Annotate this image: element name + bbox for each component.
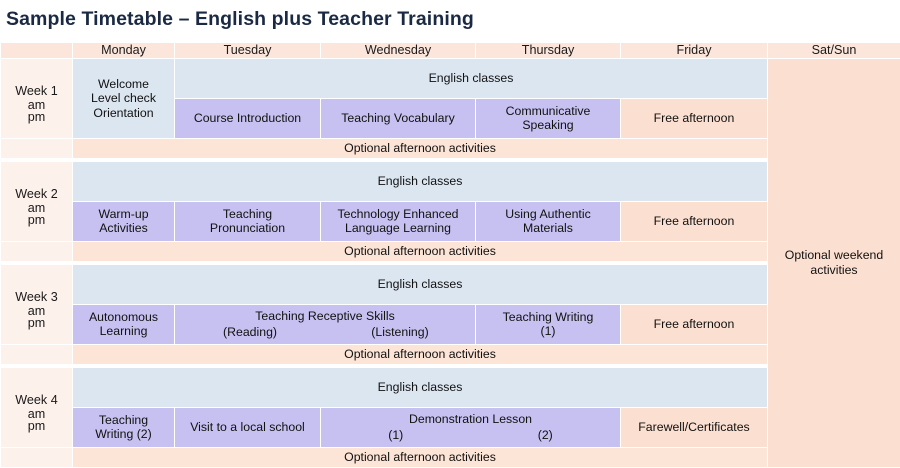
- header-corner: [1, 43, 73, 59]
- week4-pm-demonstration-lesson[interactable]: Demonstration Lesson (1) (2): [321, 407, 621, 447]
- week3-pm-thursday[interactable]: Teaching Writing (1): [476, 304, 621, 344]
- week1-optional-spacer: [1, 138, 73, 158]
- week2-pm-tuesday-line2: Pronunciation: [177, 221, 318, 236]
- week3-pm-receptive-title: Teaching Receptive Skills: [175, 309, 475, 324]
- weekend-label: Optional weekend activities: [785, 248, 883, 277]
- week-label-3-name: Week 3: [3, 290, 70, 305]
- week2-pm-thursday[interactable]: Using Authentic Materials: [476, 201, 621, 241]
- week2-pm-wednesday-line2: Language Learning: [323, 221, 473, 236]
- week1-monday-cell[interactable]: Welcome Level check Orientation: [73, 58, 175, 138]
- week-label-4-name: Week 4: [3, 393, 70, 408]
- week3-pm-receptive-sub2: (Listening): [325, 325, 475, 340]
- week1-monday-line1: Welcome: [75, 77, 172, 92]
- week1-pm-thursday[interactable]: Communicative Speaking: [476, 98, 621, 138]
- week4-pm-demo-title: Demonstration Lesson: [321, 412, 620, 427]
- week1-am-row: Week 1 am Welcome Level check Orientatio…: [1, 58, 900, 98]
- table-header-row: Monday Tuesday Wednesday Thursday Friday…: [1, 43, 900, 59]
- week4-pm-monday-line2: Writing (2): [75, 427, 172, 442]
- week1-monday-line2: Level check: [75, 91, 172, 106]
- week1-optional-row: Optional afternoon activities: [1, 138, 900, 158]
- week-label-4-pm: pm: [1, 419, 73, 433]
- week4-pm-row: Teaching Writing (2) Visit to a local sc…: [1, 407, 900, 447]
- timetable: Monday Tuesday Wednesday Thursday Friday…: [0, 42, 900, 468]
- header-day-wednesday: Wednesday: [321, 43, 476, 59]
- week-label-3-pm: pm: [1, 316, 73, 330]
- week-label-2-pm: pm: [1, 213, 73, 227]
- week3-pm-row: Autonomous Learning Teaching Receptive S…: [1, 304, 900, 344]
- header-day-monday: Monday: [73, 43, 175, 59]
- week4-am-row: Week 4 am English classes: [1, 367, 900, 407]
- week2-pm-friday[interactable]: Free afternoon: [621, 201, 768, 241]
- week1-pm-tuesday[interactable]: Course Introduction: [175, 98, 321, 138]
- week-label-4: Week 4 am: [1, 367, 73, 447]
- week1-pm-thursday-line2: Speaking: [478, 118, 618, 133]
- week3-optional-spacer: [1, 344, 73, 364]
- week2-pm-thursday-line2: Materials: [478, 221, 618, 236]
- week3-optional-activities[interactable]: Optional afternoon activities: [73, 344, 768, 364]
- week3-pm-friday[interactable]: Free afternoon: [621, 304, 768, 344]
- week-label-2-name: Week 2: [3, 187, 70, 202]
- week-label-1-pm: pm: [1, 110, 73, 124]
- weekend-cell[interactable]: Optional weekend activities: [768, 58, 900, 467]
- week2-pm-thursday-line1: Using Authentic: [478, 207, 618, 222]
- header-day-friday: Friday: [621, 43, 768, 59]
- week4-pm-demo-subs: (1) (2): [321, 428, 620, 443]
- week4-optional-row: Optional afternoon activities: [1, 447, 900, 467]
- week3-english-classes[interactable]: English classes: [73, 264, 768, 304]
- week2-pm-wednesday-line1: Technology Enhanced: [323, 207, 473, 222]
- week2-pm-monday-line2: Activities: [75, 221, 172, 236]
- week3-pm-receptive-subs: (Reading) (Listening): [175, 325, 475, 340]
- week4-optional-spacer: [1, 447, 73, 467]
- week1-english-classes[interactable]: English classes: [175, 58, 768, 98]
- week3-pm-monday-line1: Autonomous: [75, 310, 172, 325]
- week3-pm-monday[interactable]: Autonomous Learning: [73, 304, 175, 344]
- week4-pm-monday[interactable]: Teaching Writing (2): [73, 407, 175, 447]
- week2-pm-monday[interactable]: Warm-up Activities: [73, 201, 175, 241]
- week2-am-row: Week 2 am English classes: [1, 161, 900, 201]
- week-label-1: Week 1 am: [1, 58, 73, 138]
- week4-pm-demo-sub2: (2): [471, 428, 621, 443]
- week2-pm-wednesday[interactable]: Technology Enhanced Language Learning: [321, 201, 476, 241]
- week1-pm-friday[interactable]: Free afternoon: [621, 98, 768, 138]
- week3-pm-receptive-sub1: (Reading): [175, 325, 325, 340]
- week4-optional-activities[interactable]: Optional afternoon activities: [73, 447, 768, 467]
- week2-optional-activities[interactable]: Optional afternoon activities: [73, 241, 768, 261]
- week-label-2: Week 2 am: [1, 161, 73, 241]
- header-day-tuesday: Tuesday: [175, 43, 321, 59]
- week3-am-row: Week 3 am English classes: [1, 264, 900, 304]
- week-label-3: Week 3 am: [1, 264, 73, 344]
- week3-pm-monday-line2: Learning: [75, 324, 172, 339]
- week3-optional-row: Optional afternoon activities: [1, 344, 900, 364]
- week2-optional-spacer: [1, 241, 73, 261]
- week2-pm-row: Warm-up Activities Teaching Pronunciatio…: [1, 201, 900, 241]
- week2-pm-tuesday-line1: Teaching: [177, 207, 318, 222]
- week2-pm-monday-line1: Warm-up: [75, 207, 172, 222]
- page-title: Sample Timetable – English plus Teacher …: [0, 0, 900, 31]
- week4-pm-tuesday[interactable]: Visit to a local school: [175, 407, 321, 447]
- week3-pm-thursday-line1: Teaching Writing: [478, 310, 618, 325]
- week2-english-classes[interactable]: English classes: [73, 161, 768, 201]
- week4-english-classes[interactable]: English classes: [73, 367, 768, 407]
- timetable-container: Monday Tuesday Wednesday Thursday Friday…: [0, 42, 900, 450]
- week1-optional-activities[interactable]: Optional afternoon activities: [73, 138, 768, 158]
- week-label-1-name: Week 1: [3, 84, 70, 99]
- week4-pm-monday-line1: Teaching: [75, 413, 172, 428]
- week2-pm-tuesday[interactable]: Teaching Pronunciation: [175, 201, 321, 241]
- week3-pm-thursday-line2: (1): [478, 324, 618, 339]
- week2-optional-row: Optional afternoon activities: [1, 241, 900, 261]
- header-day-satsun: Sat/Sun: [768, 43, 900, 59]
- week3-pm-receptive-skills[interactable]: Teaching Receptive Skills (Reading) (Lis…: [175, 304, 476, 344]
- week1-monday-line3: Orientation: [75, 106, 172, 121]
- week1-pm-thursday-line1: Communicative: [478, 104, 618, 119]
- week4-pm-demo-sub1: (1): [321, 428, 471, 443]
- header-day-thursday: Thursday: [476, 43, 621, 59]
- week1-pm-wednesday[interactable]: Teaching Vocabulary: [321, 98, 476, 138]
- week4-pm-friday[interactable]: Farewell/Certificates: [621, 407, 768, 447]
